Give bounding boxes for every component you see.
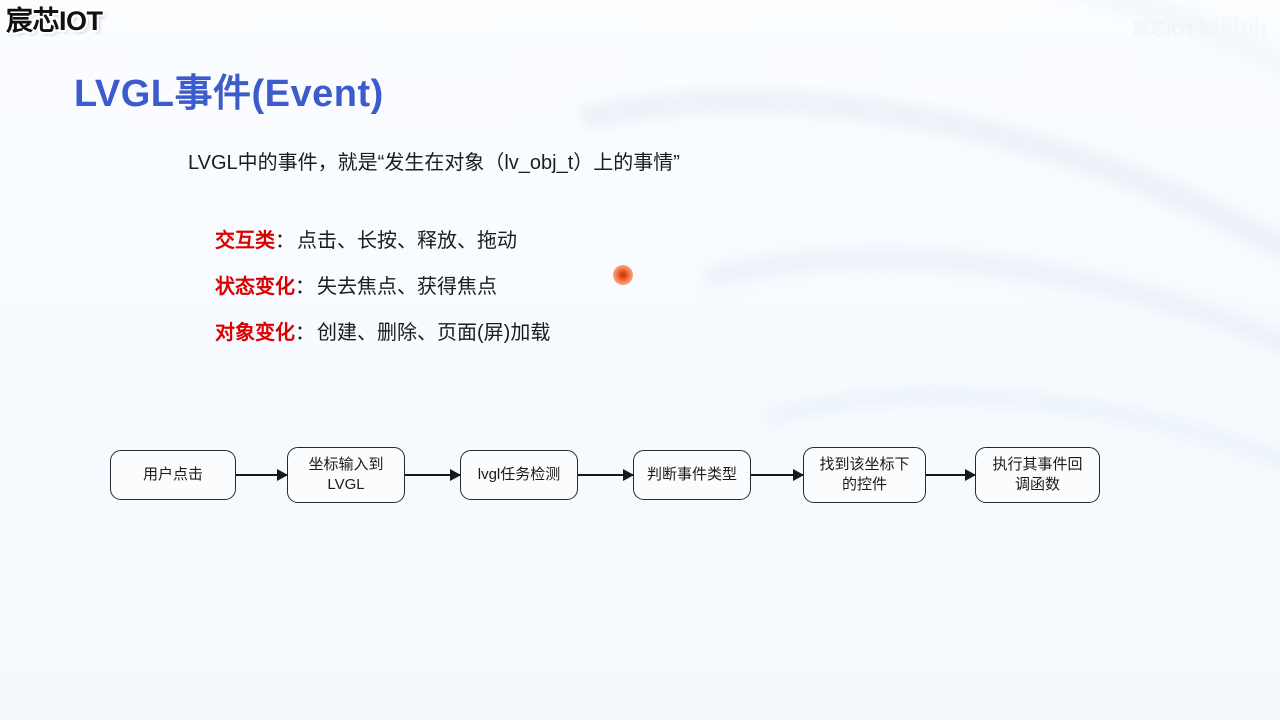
category-label: 交互类 — [215, 224, 275, 253]
channel-logo: 宸芯IOT — [6, 2, 103, 40]
watermark-text: 宸芯IOT — [1133, 15, 1195, 40]
event-category-list: 交互类 ： 点击、长按、释放、拖动 状态变化 ： 失去焦点、获得焦点 对象变化 … — [215, 224, 550, 362]
watermark-brand: bilibili — [1199, 12, 1266, 43]
category-separator: ： — [295, 270, 315, 299]
list-item: 交互类 ： 点击、长按、释放、拖动 — [215, 224, 550, 253]
category-value: 失去焦点、获得焦点 — [317, 270, 497, 299]
flow-arrow-icon — [405, 474, 460, 476]
event-flow-diagram: 用户点击 坐标输入到 LVGL lvgl任务检测 判断事件类型 找到该坐标下 的… — [110, 447, 1100, 503]
flow-arrow-icon — [926, 474, 975, 476]
category-label: 对象变化 — [215, 316, 295, 345]
list-item: 对象变化 ： 创建、删除、页面(屏)加载 — [215, 316, 550, 345]
flow-box-find-widget[interactable]: 找到该坐标下 的控件 — [803, 447, 926, 503]
flow-box-execute-callback[interactable]: 执行其事件回 调函数 — [975, 447, 1100, 503]
flow-arrow-icon — [236, 474, 287, 476]
list-item: 状态变化 ： 失去焦点、获得焦点 — [215, 270, 550, 299]
flow-box-user-click[interactable]: 用户点击 — [110, 450, 236, 500]
page-title: LVGL事件(Event) — [74, 62, 384, 117]
background-swoosh-decoration — [501, 0, 1280, 720]
flow-arrow-icon — [751, 474, 803, 476]
slide-canvas: 宸芯IOT 宸芯IOT bilibili LVGL事件(Event) LVGL中… — [0, 0, 1280, 720]
cursor-click-indicator — [613, 265, 633, 285]
category-separator: ： — [295, 316, 315, 345]
flow-box-lvgl-task-detect[interactable]: lvgl任务检测 — [460, 450, 578, 500]
flow-arrow-icon — [578, 474, 633, 476]
category-separator: ： — [275, 224, 295, 253]
category-label: 状态变化 — [215, 270, 295, 299]
definition-text: LVGL中的事件，就是“发生在对象（lv_obj_t）上的事情” — [188, 146, 680, 175]
category-value: 创建、删除、页面(屏)加载 — [317, 316, 550, 345]
watermark: 宸芯IOT bilibili — [1133, 12, 1266, 43]
flow-box-coordinate-input[interactable]: 坐标输入到 LVGL — [287, 447, 405, 503]
flow-box-judge-event-type[interactable]: 判断事件类型 — [633, 450, 751, 500]
category-value: 点击、长按、释放、拖动 — [297, 224, 517, 253]
